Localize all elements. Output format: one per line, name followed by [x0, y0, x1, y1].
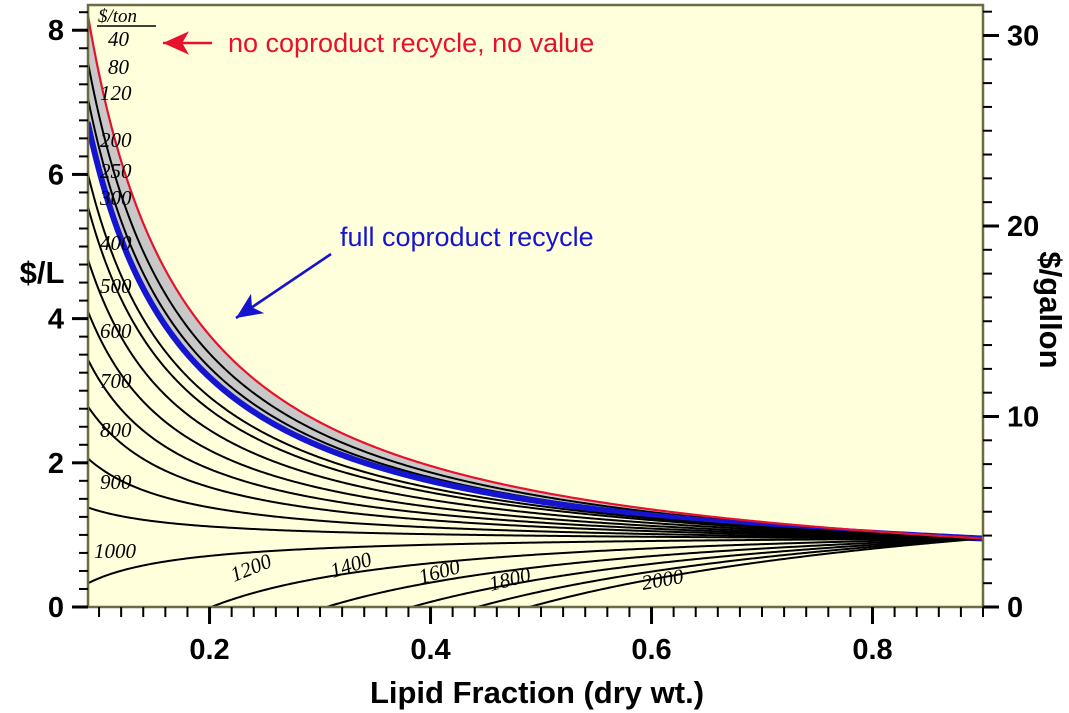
plot-area-background [88, 5, 983, 607]
curve-label-200: 200 [100, 128, 132, 152]
bottom-tick-label: 0.8 [852, 634, 892, 666]
curve-label-600: 600 [100, 319, 132, 343]
right-tick-label: 0 [1007, 592, 1023, 624]
bottom-tick-label: 0.6 [631, 634, 671, 666]
left-tick-label: 0 [48, 592, 64, 624]
annotation-text-full-recycle: full coproduct recycle [340, 222, 594, 252]
curve-label-250: 250 [100, 159, 132, 183]
right-tick-label: 20 [1007, 211, 1039, 243]
annotation-text-no-recycle: no coproduct recycle, no value [228, 28, 594, 58]
curve-label-800: 800 [100, 418, 132, 442]
curve-label-40: 40 [108, 27, 130, 51]
left-tick-label: 6 [48, 159, 64, 191]
curve-label-900: 900 [100, 470, 132, 494]
left-tick-label: 8 [48, 15, 64, 47]
chart-svg: 02468 0102030 0.20.40.60.8 $/L $/gallon … [0, 0, 1069, 713]
curve-label-80: 80 [108, 55, 130, 79]
curve-label-1000: 1000 [94, 539, 137, 563]
right-tick-label: 10 [1007, 401, 1039, 433]
bottom-axis-title: Lipid Fraction (dry wt.) [370, 675, 704, 710]
series-header-label: $/ton [98, 6, 137, 27]
curve-label-500: 500 [100, 274, 132, 298]
right-tick-label: 30 [1007, 20, 1039, 52]
curve-label-700: 700 [100, 369, 132, 393]
curve-label-300: 300 [99, 186, 132, 210]
bottom-tick-label: 0.2 [189, 634, 229, 666]
curve-label-400: 400 [100, 231, 132, 255]
chart-figure: 02468 0102030 0.20.40.60.8 $/L $/gallon … [0, 0, 1069, 713]
left-tick-label: 2 [48, 448, 64, 480]
curve-label-120: 120 [100, 81, 132, 105]
left-axis-title: $/L [20, 255, 65, 290]
bottom-tick-label: 0.4 [410, 634, 450, 666]
right-axis-title: $/gallon [1033, 251, 1068, 368]
left-tick-label: 4 [48, 304, 64, 336]
